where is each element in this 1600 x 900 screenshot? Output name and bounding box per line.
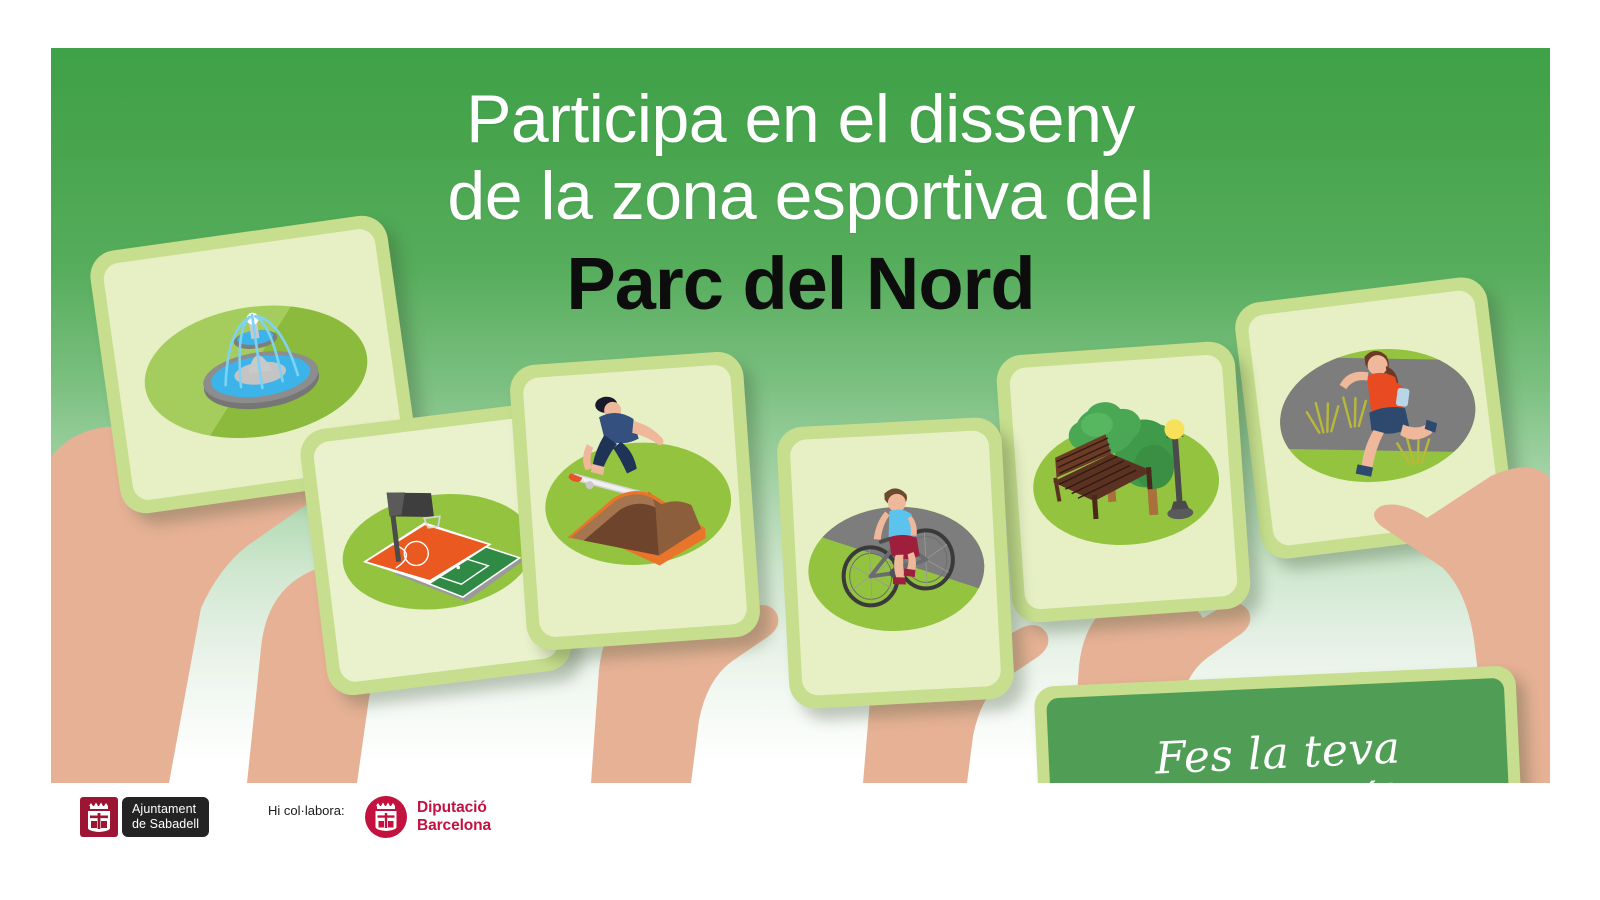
diputacio-wordmark: Diputació Barcelona <box>417 799 491 836</box>
sabadell-shield-icon <box>80 797 118 837</box>
sabadell-line-1: Ajuntament <box>132 802 199 817</box>
diputacio-line-2: Barcelona <box>417 817 491 835</box>
collaborate-label: Hi col·labora: <box>268 803 345 818</box>
logo-diputacio-barcelona[interactable]: Diputació Barcelona <box>365 793 491 841</box>
sabadell-line-2: de Sabadell <box>132 817 199 832</box>
footer-logos: Ajuntament de Sabadell Hi col·labora: Di… <box>0 783 1600 900</box>
diputacio-line-1: Diputació <box>417 799 491 817</box>
diputacio-crest-icon <box>365 796 407 838</box>
poster-banner: Participa en el disseny de la zona espor… <box>51 48 1550 783</box>
hand-6-layer <box>51 48 1550 783</box>
logo-ajuntament-de-sabadell[interactable]: Ajuntament de Sabadell <box>80 797 209 837</box>
sabadell-nameplate: Ajuntament de Sabadell <box>122 797 209 837</box>
